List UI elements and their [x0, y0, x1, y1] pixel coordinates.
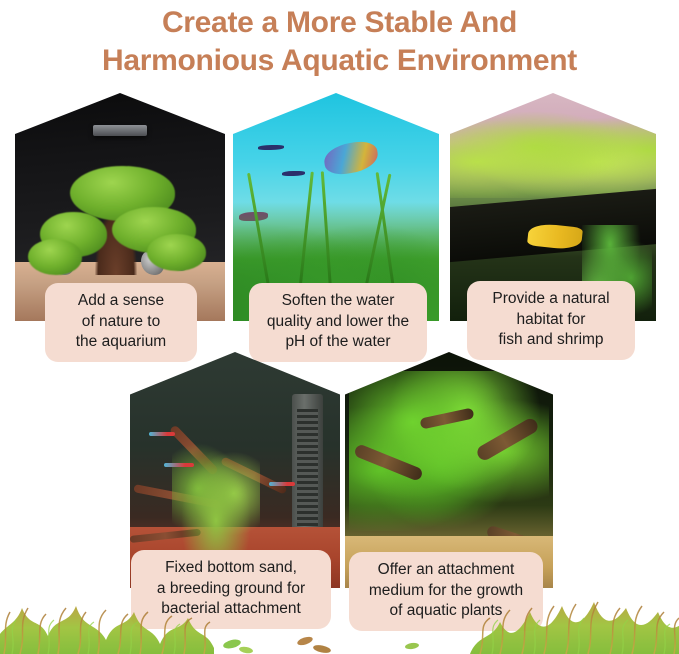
cryptocoryne-plant [172, 432, 260, 555]
small-fish [258, 145, 285, 150]
rainbowfish [322, 140, 379, 177]
page-title-line-1: Create a More Stable And [0, 4, 679, 42]
panel-caption-planted: Soften the water quality and lower the p… [249, 283, 427, 362]
neon-tetra-fish [164, 463, 194, 467]
panel-caption-bonsai: Add a sense of nature to the aquarium [45, 283, 197, 362]
page-title-line-2: Harmonious Aquatic Environment [0, 42, 679, 80]
aquatic-moss-strip-icon [0, 578, 679, 654]
java-moss [450, 107, 656, 198]
neon-tetra-fish [269, 482, 295, 486]
neon-tetra-fish [149, 432, 175, 436]
tank-light-hood-icon [93, 125, 148, 136]
panel-caption-mosstree: Offer an attachment medium for the growt… [349, 552, 543, 631]
bottom-plant-decoration [0, 578, 679, 654]
moss-foliage [28, 239, 83, 275]
panel-caption-moss: Provide a natural habitat for fish and s… [467, 281, 635, 360]
tank-filter [292, 394, 324, 540]
page-title: Create a More Stable And Harmonious Aqua… [0, 0, 679, 81]
panel-caption-driftwood: Fixed bottom sand, a breeding ground for… [131, 550, 331, 629]
small-fish [282, 171, 305, 176]
moss-foliage [147, 234, 206, 270]
